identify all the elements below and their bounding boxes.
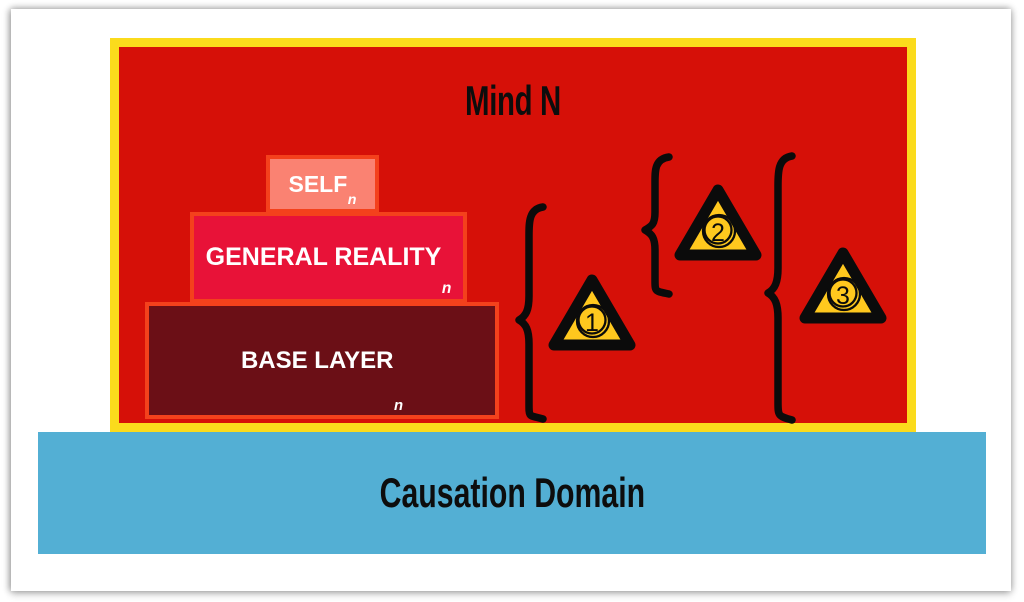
causation-domain-bar: Causation Domain bbox=[38, 432, 986, 554]
layer-box-general-reality: GENERAL REALITYn bbox=[190, 212, 467, 303]
diagram-canvas: Mind N SELFn GENERAL REALITYn BASE LAYER… bbox=[0, 0, 1024, 602]
layer-box-base-layer: BASE LAYERn bbox=[145, 302, 499, 419]
mind-panel-title: Mind N bbox=[237, 77, 789, 125]
layer-subscript-general-reality: n bbox=[442, 280, 451, 298]
layer-subscript-base-layer: n bbox=[394, 398, 403, 414]
layer-label-self: SELF bbox=[289, 171, 348, 198]
layer-label-general-reality: GENERAL REALITY bbox=[206, 243, 442, 272]
layer-label-base-layer: BASE LAYER bbox=[241, 347, 393, 375]
layer-box-self: SELFn bbox=[266, 155, 379, 213]
layer-subscript-self: n bbox=[348, 192, 357, 208]
causation-domain-label: Causation Domain bbox=[379, 469, 644, 517]
